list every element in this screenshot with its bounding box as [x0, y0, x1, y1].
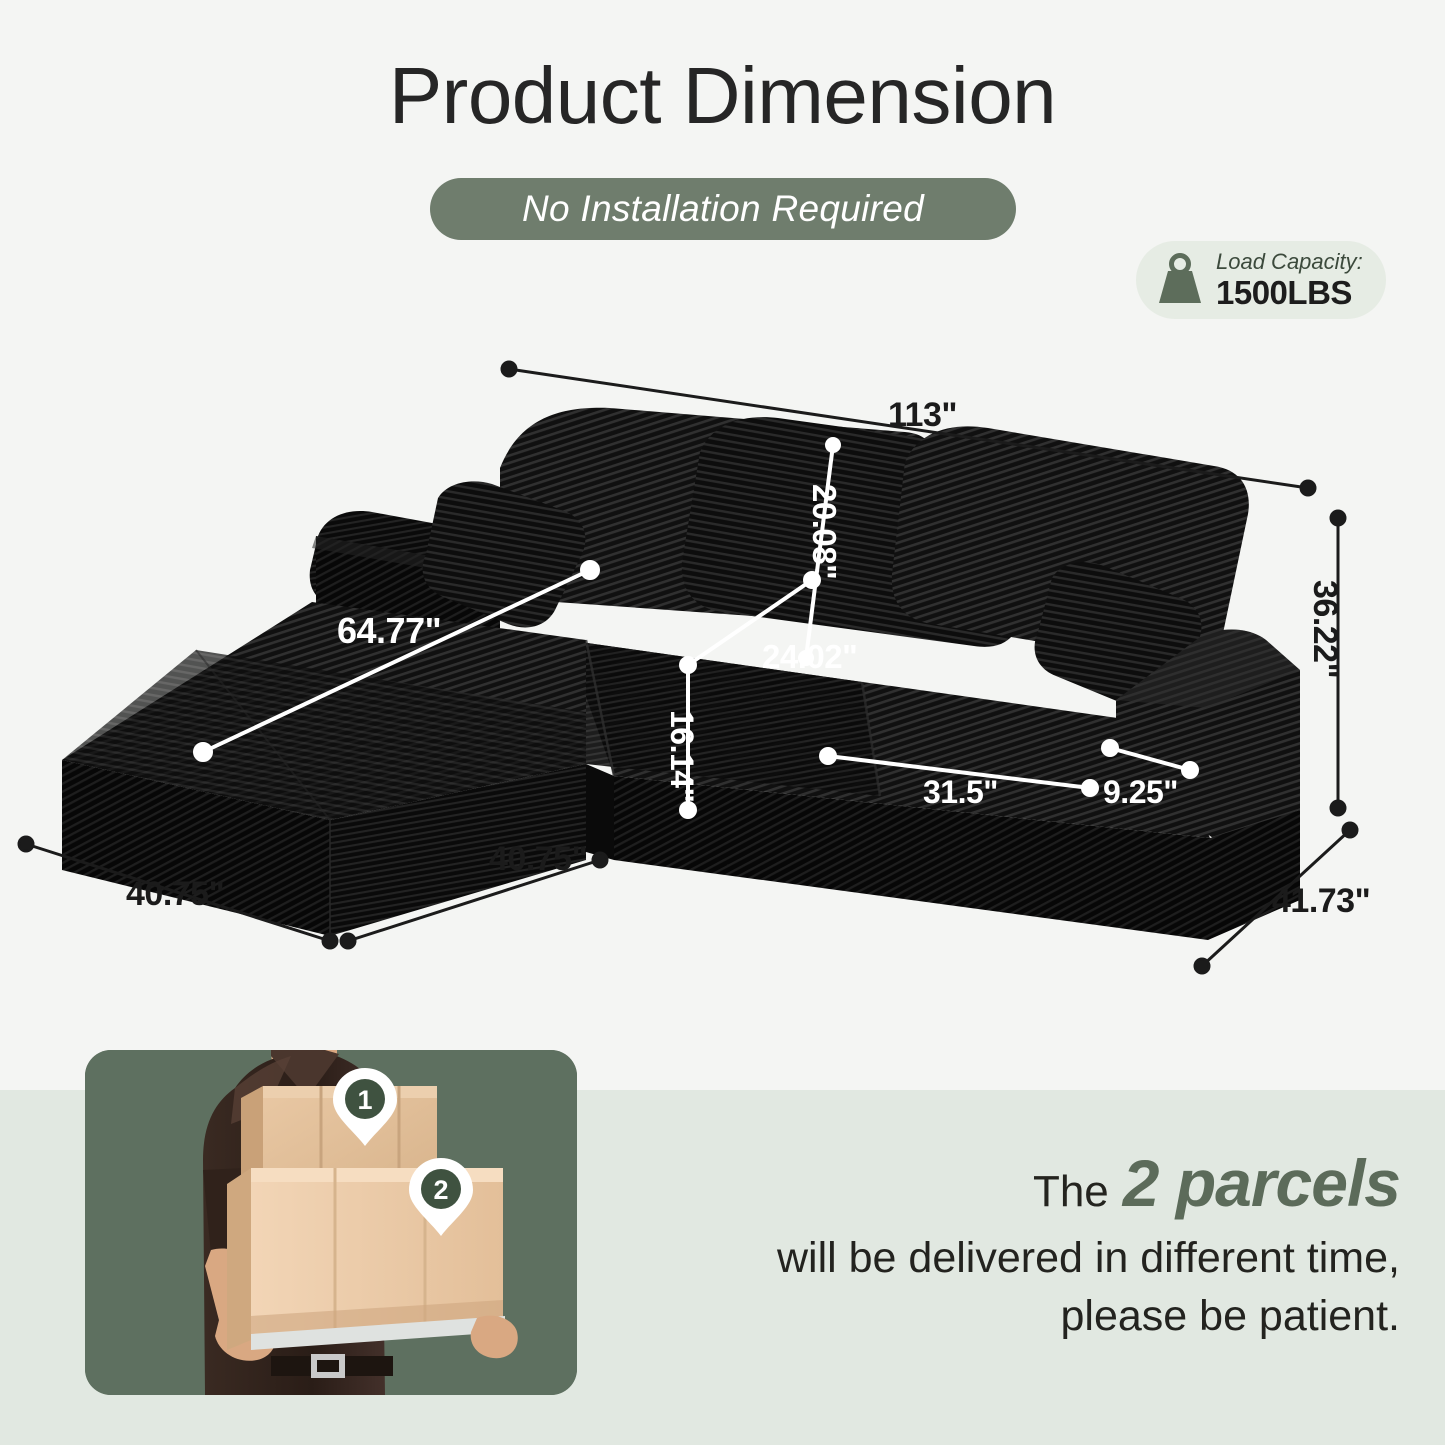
- delivery-section: 1 2 The2 parcels will be delivered in di…: [0, 1090, 1445, 1445]
- dim-sofa-depth: 41.73": [1272, 882, 1370, 921]
- delivery-message-highlight: 2 parcels: [1123, 1146, 1400, 1220]
- dim-chaise-depth-right: 40.75": [489, 840, 587, 879]
- svg-text:2: 2: [433, 1175, 448, 1205]
- delivery-photo-illustration: 1 2: [85, 1050, 577, 1395]
- parcel-box-2-side: [227, 1168, 251, 1350]
- sofa-illustration: [0, 340, 1445, 1020]
- sofa-side-face-center: [586, 764, 614, 860]
- dim-back-height: 20.08": [805, 484, 843, 579]
- delivery-message-prefix: The: [1033, 1167, 1109, 1216]
- dim-overall-height: 36.22": [1305, 580, 1344, 678]
- delivery-message-line2: will be delivered in different time,: [640, 1229, 1400, 1287]
- dim-seat-height: 16.14": [663, 710, 700, 802]
- no-installation-badge-label: No Installation Required: [522, 188, 924, 230]
- page-title: Product Dimension: [0, 52, 1445, 140]
- weight-icon: [1154, 253, 1206, 307]
- delivery-message: The2 parcels will be delivered in differ…: [640, 1152, 1400, 1345]
- delivery-message-line3: please be patient.: [640, 1287, 1400, 1345]
- dim-seat-depth: 24.02": [762, 638, 857, 676]
- no-installation-badge: No Installation Required: [430, 178, 1016, 240]
- load-capacity-value: 1500LBS: [1216, 276, 1363, 309]
- load-capacity-badge: Load Capacity: 1500LBS: [1136, 241, 1386, 319]
- dim-arm-width: 9.25": [1103, 774, 1178, 811]
- infographic-page: Product Dimension No Installation Requir…: [0, 0, 1445, 1445]
- load-capacity-label: Load Capacity:: [1216, 251, 1363, 273]
- dim-chaise-length: 64.77": [337, 610, 441, 652]
- sofa-diagram: 113" 36.22" 20.08" 64.77" 24.02" 16.14" …: [0, 340, 1445, 1020]
- svg-text:1: 1: [357, 1085, 372, 1115]
- load-capacity-text: Load Capacity: 1500LBS: [1216, 251, 1363, 309]
- dimension-section: Product Dimension No Installation Requir…: [0, 0, 1445, 1090]
- dim-overall-width: 113": [888, 396, 957, 435]
- dim-seat-width: 31.5": [923, 774, 998, 811]
- dim-chaise-depth-left: 40.75": [126, 875, 224, 914]
- delivery-message-line1: The2 parcels: [640, 1152, 1400, 1223]
- delivery-photo: 1 2: [85, 1050, 577, 1395]
